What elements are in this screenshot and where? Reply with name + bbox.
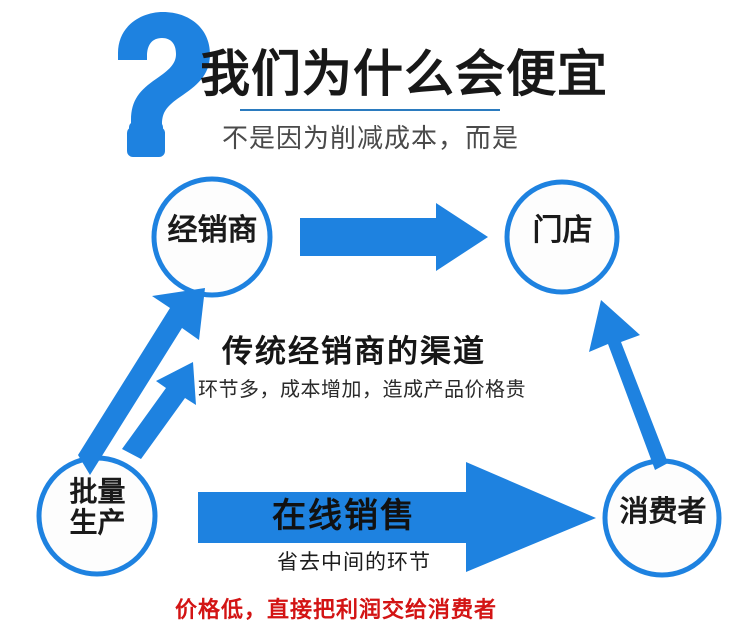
online-sales-heading: 在线销售 xyxy=(272,488,416,537)
traditional-channel-heading: 传统经销商的渠道 xyxy=(222,326,486,371)
question-mark-icon xyxy=(118,12,210,157)
node-label-producer-line2: 生产 xyxy=(35,507,160,538)
arrow-distributor-to-store xyxy=(300,203,488,271)
infographic-canvas: 我们为什么会便宜 不是因为削减成本，而是 经销商 门店 批量 生产 消费者 传统… xyxy=(0,0,750,636)
footer-note: 价格低，直接把利润交给消费者 xyxy=(175,592,497,624)
page-subtitle: 不是因为削减成本，而是 xyxy=(222,118,519,155)
node-label-producer-line1: 批量 xyxy=(35,476,160,507)
arrow-producer-to-distributor xyxy=(78,288,205,475)
page-title: 我们为什么会便宜 xyxy=(200,34,608,106)
online-sales-description: 省去中间的环节 xyxy=(277,546,431,576)
node-label-store: 门店 xyxy=(505,215,620,247)
traditional-channel-description: 环节多，成本增加，造成产品价格贵 xyxy=(198,373,526,402)
node-label-distributor: 经销商 xyxy=(150,215,275,247)
node-label-producer: 批量 生产 xyxy=(35,476,160,539)
arrow-consumer-to-store xyxy=(589,300,668,470)
node-label-consumer: 消费者 xyxy=(593,496,733,526)
